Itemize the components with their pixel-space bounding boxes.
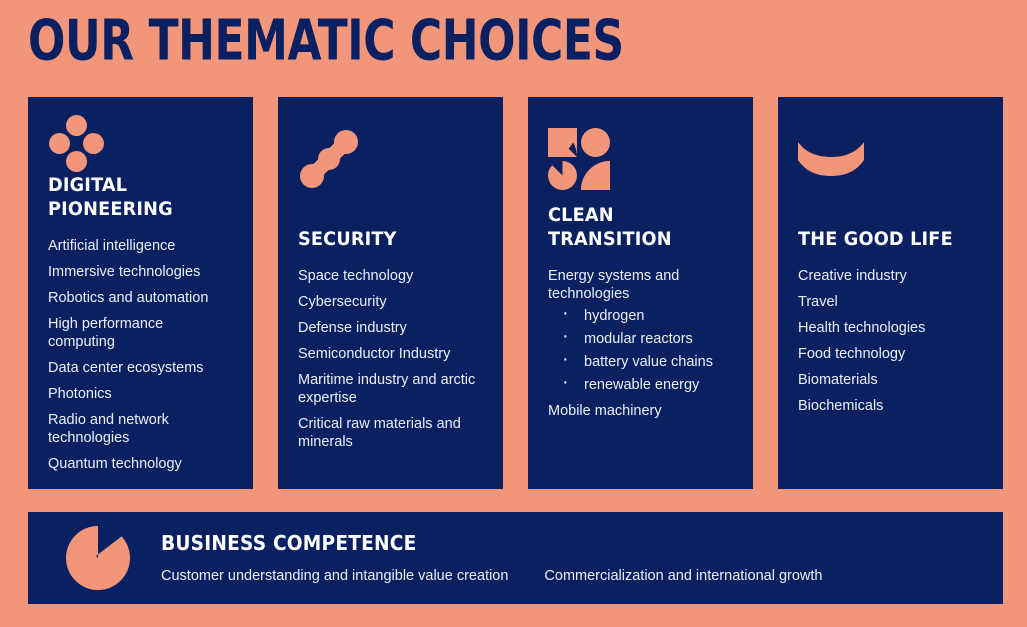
list-item: Mobile machinery xyxy=(548,402,733,420)
icon-slot xyxy=(798,115,983,203)
list-item: Critical raw materials and minerals xyxy=(298,415,483,451)
list-item: Energy systems and technologies hydrogen… xyxy=(548,267,733,394)
theme-card-title: DIGITAL PIONEERING xyxy=(48,173,220,221)
smile-bowl-icon xyxy=(798,142,864,176)
business-competence-title: BUSINESS COMPETENCE xyxy=(161,531,925,555)
pie-chart-icon xyxy=(66,526,130,590)
theme-card-title-line: TRANSITION xyxy=(548,227,720,251)
theme-card-title: CLEAN TRANSITION xyxy=(548,203,720,251)
page-title: OUR THEMATIC CHOICES xyxy=(28,8,624,73)
sub-list-item: hydrogen xyxy=(562,308,733,325)
theme-card-title-line: PIONEERING xyxy=(48,197,220,221)
dot-top xyxy=(66,115,87,136)
list-item: Creative industry xyxy=(798,267,983,285)
icon-slot xyxy=(548,115,733,203)
sub-list-item: battery value chains xyxy=(562,354,733,371)
theme-card-title-line: DIGITAL xyxy=(48,173,220,197)
theme-card-digital-pioneering[interactable]: DIGITAL PIONEERING Artificial intelligen… xyxy=(28,97,253,489)
list-item: Food technology xyxy=(798,345,983,363)
list-item: Cybersecurity xyxy=(298,293,483,311)
list-item: Customer understanding and intangible va… xyxy=(161,567,508,585)
theme-card-title-line: CLEAN xyxy=(548,203,720,227)
chain-link-icon xyxy=(298,128,360,190)
theme-card-security[interactable]: SECURITY Space technology Cybersecurity … xyxy=(278,97,503,489)
icon-slot xyxy=(48,115,233,173)
theme-card-title: THE GOOD LIFE xyxy=(798,203,970,251)
business-competence-text: BUSINESS COMPETENCE Customer understandi… xyxy=(148,531,983,585)
theme-card-title-line: SECURITY xyxy=(298,227,470,251)
dot-right xyxy=(83,133,104,154)
list-item: Travel xyxy=(798,293,983,311)
list-item: High performance computing xyxy=(48,315,233,351)
list-item: Defense industry xyxy=(298,319,483,337)
sub-list-item: renewable energy xyxy=(562,377,733,394)
icon-slot xyxy=(298,115,483,203)
list-item: Radio and network technologies xyxy=(48,411,233,447)
theme-card-the-good-life[interactable]: THE GOOD LIFE Creative industry Travel H… xyxy=(778,97,1003,489)
list-item: Commercialization and international grow… xyxy=(544,567,822,585)
slide-root: OUR THEMATIC CHOICES DIGITAL PIONEERING … xyxy=(0,0,1027,627)
theme-card-clean-transition[interactable]: CLEAN TRANSITION Energy systems and tech… xyxy=(528,97,753,489)
list-item: Immersive technologies xyxy=(48,263,233,281)
theme-columns: DIGITAL PIONEERING Artificial intelligen… xyxy=(28,97,1003,489)
theme-item-list: Energy systems and technologies hydrogen… xyxy=(548,267,733,428)
icon-slot xyxy=(48,526,148,590)
business-competence-bar[interactable]: BUSINESS COMPETENCE Customer understandi… xyxy=(28,512,1003,604)
list-item: Data center ecosystems xyxy=(48,359,233,377)
list-item: Quantum technology xyxy=(48,455,233,473)
list-item-label: Energy systems and technologies xyxy=(548,268,679,302)
list-item: Maritime industry and arctic expertise xyxy=(298,371,483,407)
theme-card-title-line: THE GOOD LIFE xyxy=(798,227,970,251)
theme-item-list: Artificial intelligence Immersive techno… xyxy=(48,237,233,481)
list-item: Semiconductor Industry xyxy=(298,345,483,363)
theme-item-list: Creative industry Travel Health technolo… xyxy=(798,267,983,423)
theme-item-list: Space technology Cybersecurity Defense i… xyxy=(298,267,483,459)
sub-item-list: hydrogen modular reactors battery value … xyxy=(548,308,733,394)
list-item: Biochemicals xyxy=(798,397,983,415)
four-dots-diamond-icon xyxy=(48,115,106,173)
list-item: Space technology xyxy=(298,267,483,285)
list-item: Health technologies xyxy=(798,319,983,337)
list-item: Photonics xyxy=(48,385,233,403)
business-competence-items: Customer understanding and intangible va… xyxy=(161,567,983,585)
sub-list-item: modular reactors xyxy=(562,331,733,348)
theme-card-title: SECURITY xyxy=(298,203,470,251)
dot-bottom xyxy=(66,151,87,172)
list-item: Biomaterials xyxy=(798,371,983,389)
dot-left xyxy=(49,133,70,154)
four-quadrant-shapes-icon xyxy=(548,128,610,190)
list-item: Robotics and automation xyxy=(48,289,233,307)
list-item: Artificial intelligence xyxy=(48,237,233,255)
